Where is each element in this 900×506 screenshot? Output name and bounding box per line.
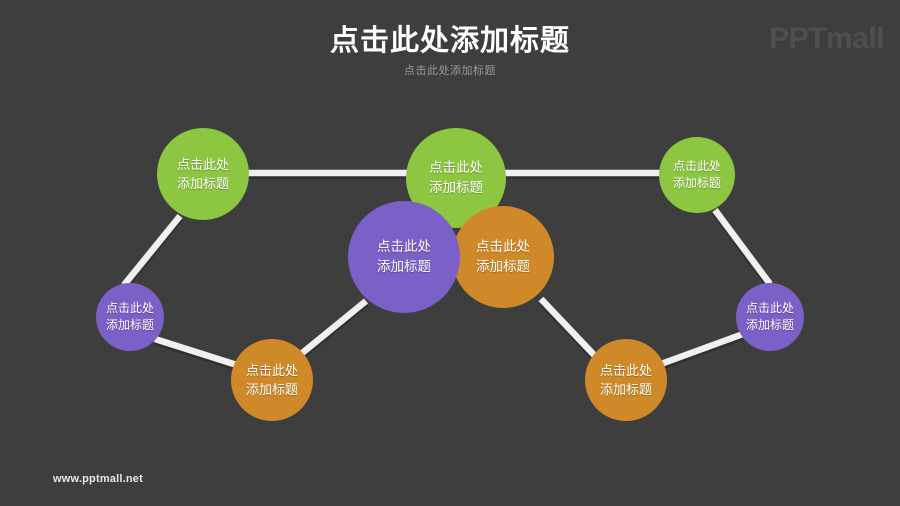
node-label-line2: 添加标题 xyxy=(177,174,229,193)
node-label-line2: 添加标题 xyxy=(673,175,721,192)
node-label-line1: 点击此处 xyxy=(673,158,721,175)
diagram-node-right-purple[interactable]: 点击此处添加标题 xyxy=(736,283,804,351)
node-label-line2: 添加标题 xyxy=(746,317,794,334)
diagram-node-left-top-green[interactable]: 点击此处添加标题 xyxy=(157,128,249,220)
connector-line-conn-lefttop-purple xyxy=(124,216,180,285)
diagram-node-center-orange[interactable]: 点击此处添加标题 xyxy=(452,206,554,308)
node-label-line2: 添加标题 xyxy=(106,317,154,334)
connector-line-conn-rorange-rpurple xyxy=(661,334,743,364)
node-label-line1: 点击此处 xyxy=(106,300,154,317)
node-label-line2: 添加标题 xyxy=(246,380,298,399)
connector-line-conn-corange-rorange xyxy=(541,299,596,357)
node-label-line1: 点击此处 xyxy=(177,155,229,174)
node-label-line1: 点击此处 xyxy=(600,361,652,380)
slide-canvas: 点击此处添加标题 点击此处添加标题 PPTmall 点击此处添加标题点击此处添加… xyxy=(0,0,900,506)
node-label-line2: 添加标题 xyxy=(476,257,530,277)
connector-line-conn-righttop-rpurple xyxy=(715,210,770,284)
footer-url: www.pptmall.net xyxy=(53,473,143,485)
connector-line-conn-orange-cpurple xyxy=(301,301,366,354)
node-label-line1: 点击此处 xyxy=(377,237,431,257)
node-label-line2: 添加标题 xyxy=(429,178,483,198)
connector-line-conn-purple-orange xyxy=(155,339,240,366)
node-label-line1: 点击此处 xyxy=(476,237,530,257)
node-label-line1: 点击此处 xyxy=(429,158,483,178)
node-label-line1: 点击此处 xyxy=(746,300,794,317)
node-label-line2: 添加标题 xyxy=(600,380,652,399)
diagram-node-right-orange[interactable]: 点击此处添加标题 xyxy=(585,339,667,421)
diagram-area: 点击此处添加标题点击此处添加标题点击此处添加标题点击此处添加标题点击此处添加标题… xyxy=(0,0,900,506)
node-label-line2: 添加标题 xyxy=(377,257,431,277)
diagram-node-right-top-green[interactable]: 点击此处添加标题 xyxy=(659,137,735,213)
diagram-node-center-purple[interactable]: 点击此处添加标题 xyxy=(348,201,460,313)
diagram-node-left-purple[interactable]: 点击此处添加标题 xyxy=(96,283,164,351)
node-label-line1: 点击此处 xyxy=(246,361,298,380)
diagram-node-left-orange[interactable]: 点击此处添加标题 xyxy=(231,339,313,421)
